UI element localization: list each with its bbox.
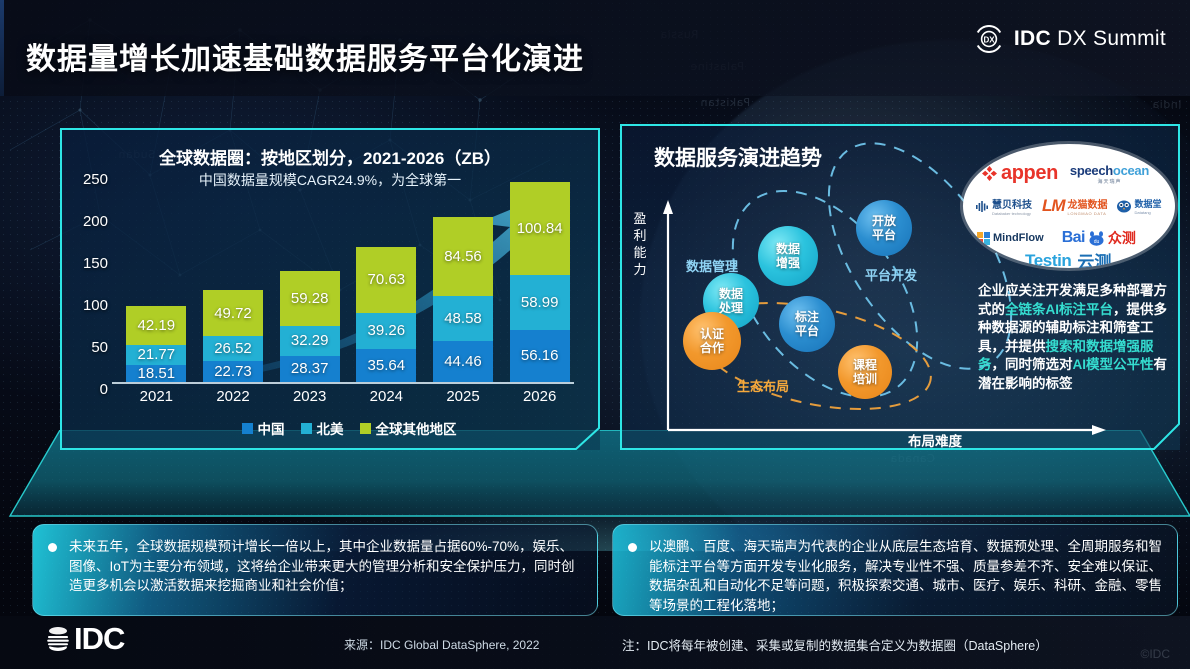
header-left-rule [0,0,4,96]
watermark: ©IDC [1140,647,1170,661]
bar-group-2026: 100.8458.9956.16 [510,182,570,382]
y-tick-50: 50 [62,339,108,356]
y-tick-250: 250 [62,171,108,188]
logo-datatang: 数据堂 Datatang [1116,197,1162,215]
ghost-label-pakistan: Pakistan [700,96,750,109]
bar-segment-2024-全球其他地区: 70.63 [356,247,416,313]
logo-mindflow: MindFlow [977,232,1044,245]
logo-row-1: appen speechocean 海天瑞声 [981,162,1149,185]
legend-label-north-america: 北美 [317,418,344,438]
dx-summit-logo: DX IDC DX Summit [974,24,1166,54]
svg-text:du: du [1094,239,1100,245]
bar-value-label: 21.77 [138,346,176,363]
bar-segment-2022-全球其他地区: 49.72 [203,290,263,336]
dx-summit-text: IDC DX Summit [1014,27,1166,51]
bar-value-label: 35.64 [368,357,406,374]
bar-value-label: 100.84 [517,220,563,237]
dx-badge-icon: DX [974,24,1004,54]
bubble-open-platform[interactable]: 开放平台 [856,200,912,256]
logo-longmao-data: LM 龙猫数据 LONGMAO DATA [1042,196,1108,216]
appen-mark-icon [981,165,998,182]
y-tick-150: 150 [62,255,108,272]
x-tick-2023: 2023 [280,388,340,405]
paragraph-segment-1: 全链条AI标注平台 [1005,302,1113,317]
bar-value-label: 39.26 [368,322,406,339]
bar-value-label: 84.56 [444,248,482,265]
mindflow-mark-icon [977,232,990,245]
bar-value-label: 59.28 [291,290,329,307]
logo-appen: appen [981,162,1058,185]
bar-group-2023: 59.2832.2928.37 [280,271,340,382]
bar-value-label: 58.99 [521,294,559,311]
paragraph-segment-5: AI模型公平性 [1073,357,1154,372]
bar-segment-2026-中国: 56.16 [510,330,570,382]
bar-value-label: 48.58 [444,310,482,327]
insight-note-left: 未来五年，全球数据规模预计增长一倍以上，其中企业数据量占据60%-70%，娱乐、… [32,524,598,616]
bar-segment-2022-中国: 22.73 [203,361,263,382]
bubble-course-training[interactable]: 课程培训 [838,345,892,399]
field-label-platform-development: 平台开发 [865,265,917,284]
bubble-certification-cooperation[interactable]: 认证合作 [683,312,741,370]
bar-segment-2023-中国: 28.37 [280,356,340,382]
baidu-paw-icon: du [1088,231,1105,246]
bubble-annotation-platform[interactable]: 标注平台 [779,296,835,352]
bar-group-2021: 42.1921.7718.51 [126,306,186,383]
bar-segment-2026-北美: 58.99 [510,275,570,330]
bar-segment-2021-北美: 21.77 [126,345,186,365]
bar-segment-2025-北美: 48.58 [433,296,493,341]
y-tick-200: 200 [62,213,108,230]
bar-value-label: 32.29 [291,332,329,349]
bar-value-label: 28.37 [291,360,329,377]
bar-segment-2025-全球其他地区: 84.56 [433,217,493,295]
ghost-label-india: India [1152,98,1182,111]
bubble-x-axis-label: 布局难度 [908,430,962,450]
brand-idc: IDC [1014,27,1051,50]
insight-note-right: 以澳鹏、百度、海天瑞声为代表的企业从底层生态培育、数据预处理、全周期服务和智能标… [612,524,1178,616]
bar-segment-2024-中国: 35.64 [356,349,416,382]
logo-databaker: 慧贝科技 Databaker technology [975,196,1032,216]
bar-segment-2024-北美: 39.26 [356,313,416,349]
chart-legend: 中国 北美 全球其他地区 [118,418,580,438]
bar-value-label: 56.16 [521,347,559,364]
bar-value-label: 26.52 [214,340,252,357]
bullet-dot-icon-right [628,543,637,552]
field-label-ecosystem-layout: 生态布局 [737,376,789,395]
y-tick-100: 100 [62,297,108,314]
logo-testin: Testin云测 [1025,248,1111,268]
bar-value-label: 42.19 [138,317,176,334]
bar-value-label: 44.46 [444,353,482,370]
idc-logo-text: IDC [74,621,124,657]
bar-value-label: 49.72 [214,305,252,322]
bubble-y-axis-label: 盈利能力 [632,210,648,278]
legend-item-north-america: 北美 [301,418,344,438]
legend-item-rest-of-world: 全球其他地区 [360,418,457,438]
x-tick-2024: 2024 [356,388,416,405]
bar-group-2025: 84.5648.5844.46 [433,217,493,382]
x-tick-2022: 2022 [203,388,263,405]
brand-dx-summit: DX Summit [1057,27,1166,50]
bubble-data-augmentation[interactable]: 数据增强 [758,226,818,286]
bar-value-label: 22.73 [214,363,252,380]
insight-note-right-text: 以澳鹏、百度、海天瑞声为代表的企业从底层生态培育、数据预处理、全周期服务和智能标… [649,539,1162,613]
bar-group-2022: 49.7226.5222.73 [203,290,263,382]
legend-swatch-north-america [301,423,312,434]
idc-globe-icon [44,625,72,653]
y-tick-0: 0 [62,381,108,398]
legend-item-china: 中国 [242,418,285,438]
x-tick-2025: 2025 [433,388,493,405]
chart-baseline [112,382,574,384]
bar-value-label: 18.51 [138,365,176,382]
logo-row-3: MindFlow Bai du 众测 [977,228,1136,248]
legend-swatch-china [242,423,253,434]
bar-segment-2021-中国: 18.51 [126,365,186,382]
legend-label-china: 中国 [258,418,285,438]
databaker-mark-icon [975,200,989,213]
paragraph-segment-4: ，同时筛选对 [992,357,1073,372]
bar-segment-2025-中国: 44.46 [433,341,493,382]
vendor-logo-cluster: appen speechocean 海天瑞声 慧贝科技 Databaker te… [963,144,1175,268]
x-tick-2026: 2026 [510,388,570,405]
x-tick-2021: 2021 [126,388,186,405]
insight-note-left-text: 未来五年，全球数据规模预计增长一倍以上，其中企业数据量占据60%-70%，娱乐、… [69,539,575,593]
datatang-owl-icon [1116,199,1132,213]
chart-bars: 42.1921.7718.5149.7226.5222.7359.2832.29… [118,150,578,382]
bar-group-2024: 70.6339.2635.64 [356,247,416,382]
legend-label-rest-of-world: 全球其他地区 [376,418,457,438]
chart-y-axis: 0 50 100 150 200 250 [62,178,108,390]
page-title: 数据量增长加速基础数据服务平台化演进 [26,34,584,78]
bar-segment-2026-全球其他地区: 100.84 [510,182,570,276]
idc-logo: IDC [44,621,124,657]
logo-speechocean: speechocean 海天瑞声 [1070,163,1149,185]
bar-segment-2023-全球其他地区: 59.28 [280,271,340,326]
source-note: 来源：IDC Global DataSphere, 2022 [344,636,539,653]
bar-segment-2022-北美: 26.52 [203,336,263,361]
bullet-dot-icon-left [48,543,57,552]
bar-segment-2023-北美: 32.29 [280,326,340,356]
legend-swatch-rest-of-world [360,423,371,434]
svg-text:DX: DX [983,35,995,44]
definition-note: 注：IDC将每年被创建、采集或复制的数据集合定义为数据圈（DataSphere） [622,635,1048,654]
bar-segment-2021-全球其他地区: 42.19 [126,306,186,345]
logo-row-2: 慧贝科技 Databaker technology LM 龙猫数据 LONGMA… [975,196,1162,216]
trend-panel-paragraph: 企业应关注开发满足多种部署方式的全链条AI标注平台，提供多种数据源的辅助标注和筛… [978,282,1174,393]
bar-value-label: 70.63 [368,271,406,288]
logo-baidu-zhongce: Bai du 众测 [1062,228,1136,248]
